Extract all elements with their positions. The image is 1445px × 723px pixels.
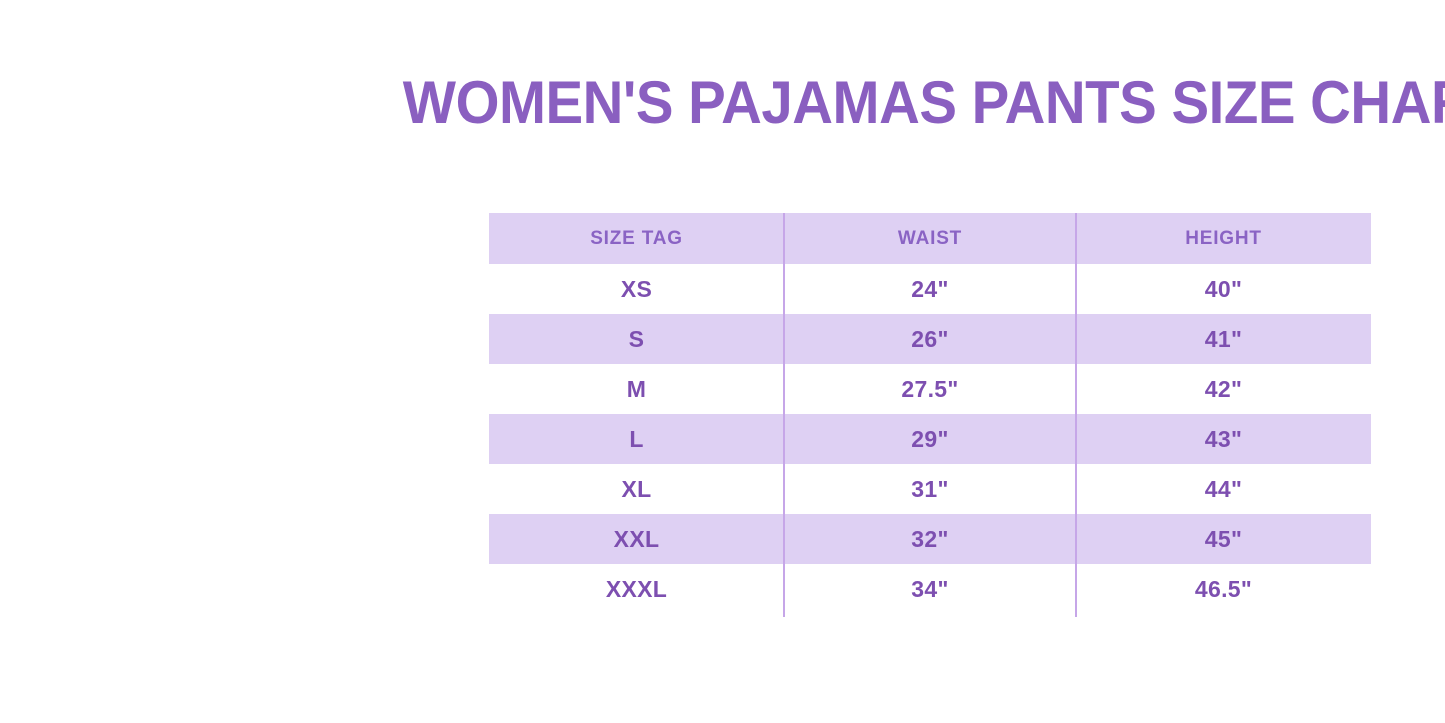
cell-size-tag: M xyxy=(489,364,784,414)
cell-height: 40" xyxy=(1076,264,1371,314)
cell-waist: 29" xyxy=(784,414,1076,464)
cell-height: 46.5" xyxy=(1076,564,1371,614)
table-row: M 27.5" 42" xyxy=(489,364,1371,414)
cell-waist: 31" xyxy=(784,464,1076,514)
size-chart-table: SIZE TAG WAIST HEIGHT XS 24" 40" S 26" 4… xyxy=(489,213,1371,614)
column-header-height: HEIGHT xyxy=(1076,213,1371,264)
cell-waist: 26" xyxy=(784,314,1076,364)
cell-height: 45" xyxy=(1076,514,1371,564)
size-chart-page: WOMEN'S PAJAMAS PANTS SIZE CHART SIZE TA… xyxy=(0,0,1445,723)
cell-waist: 34" xyxy=(784,564,1076,614)
column-header-size-tag: SIZE TAG xyxy=(489,213,784,264)
size-chart-table-container: SIZE TAG WAIST HEIGHT XS 24" 40" S 26" 4… xyxy=(489,213,1371,617)
cell-height: 43" xyxy=(1076,414,1371,464)
cell-size-tag: XXL xyxy=(489,514,784,564)
page-title: WOMEN'S PAJAMAS PANTS SIZE CHART xyxy=(514,64,1394,142)
cell-waist: 32" xyxy=(784,514,1076,564)
table-row: XXL 32" 45" xyxy=(489,514,1371,564)
cell-size-tag: XL xyxy=(489,464,784,514)
cell-waist: 27.5" xyxy=(784,364,1076,414)
table-row: L 29" 43" xyxy=(489,414,1371,464)
cell-height: 42" xyxy=(1076,364,1371,414)
table-row: XS 24" 40" xyxy=(489,264,1371,314)
cell-size-tag: L xyxy=(489,414,784,464)
table-body: XS 24" 40" S 26" 41" M 27.5" 42" L 29" xyxy=(489,264,1371,614)
cell-height: 41" xyxy=(1076,314,1371,364)
table-row: S 26" 41" xyxy=(489,314,1371,364)
cell-size-tag: XXXL xyxy=(489,564,784,614)
table-row: XXXL 34" 46.5" xyxy=(489,564,1371,614)
cell-size-tag: XS xyxy=(489,264,784,314)
table-row: XL 31" 44" xyxy=(489,464,1371,514)
table-header: SIZE TAG WAIST HEIGHT xyxy=(489,213,1371,264)
cell-height: 44" xyxy=(1076,464,1371,514)
table-header-row: SIZE TAG WAIST HEIGHT xyxy=(489,213,1371,264)
cell-waist: 24" xyxy=(784,264,1076,314)
cell-size-tag: S xyxy=(489,314,784,364)
column-header-waist: WAIST xyxy=(784,213,1076,264)
